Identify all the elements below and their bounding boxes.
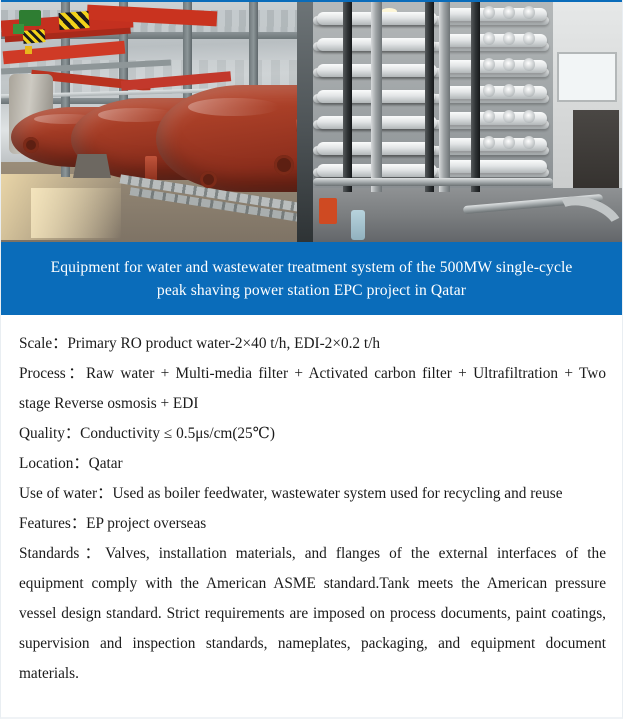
photo-strip (1, 0, 622, 242)
spec-features: Features：EP project overseas (19, 509, 606, 539)
spec-location: Location：Qatar (19, 449, 606, 479)
spec-list: Scale：Primary RO product water-2×40 t/h,… (1, 315, 622, 689)
spec-use-of-water: Use of water：Used as boiler feedwater, w… (19, 479, 606, 509)
spec-scale: Scale：Primary RO product water-2×40 t/h,… (19, 329, 606, 359)
project-info-card: Equipment for water and wastewater treat… (0, 0, 623, 719)
title-banner: Equipment for water and wastewater treat… (1, 242, 622, 315)
pressure-vessel-photo (1, 2, 313, 242)
banner-title: Equipment for water and wastewater treat… (37, 256, 587, 302)
spec-quality: Quality：Conductivity ≤ 0.5μs/cm(25℃) (19, 419, 606, 449)
ro-skid-photo (313, 2, 622, 242)
spec-standards: Standards：Valves, installation materials… (19, 539, 606, 689)
spec-process: Process：Raw water + Multi-media filter +… (19, 359, 606, 419)
